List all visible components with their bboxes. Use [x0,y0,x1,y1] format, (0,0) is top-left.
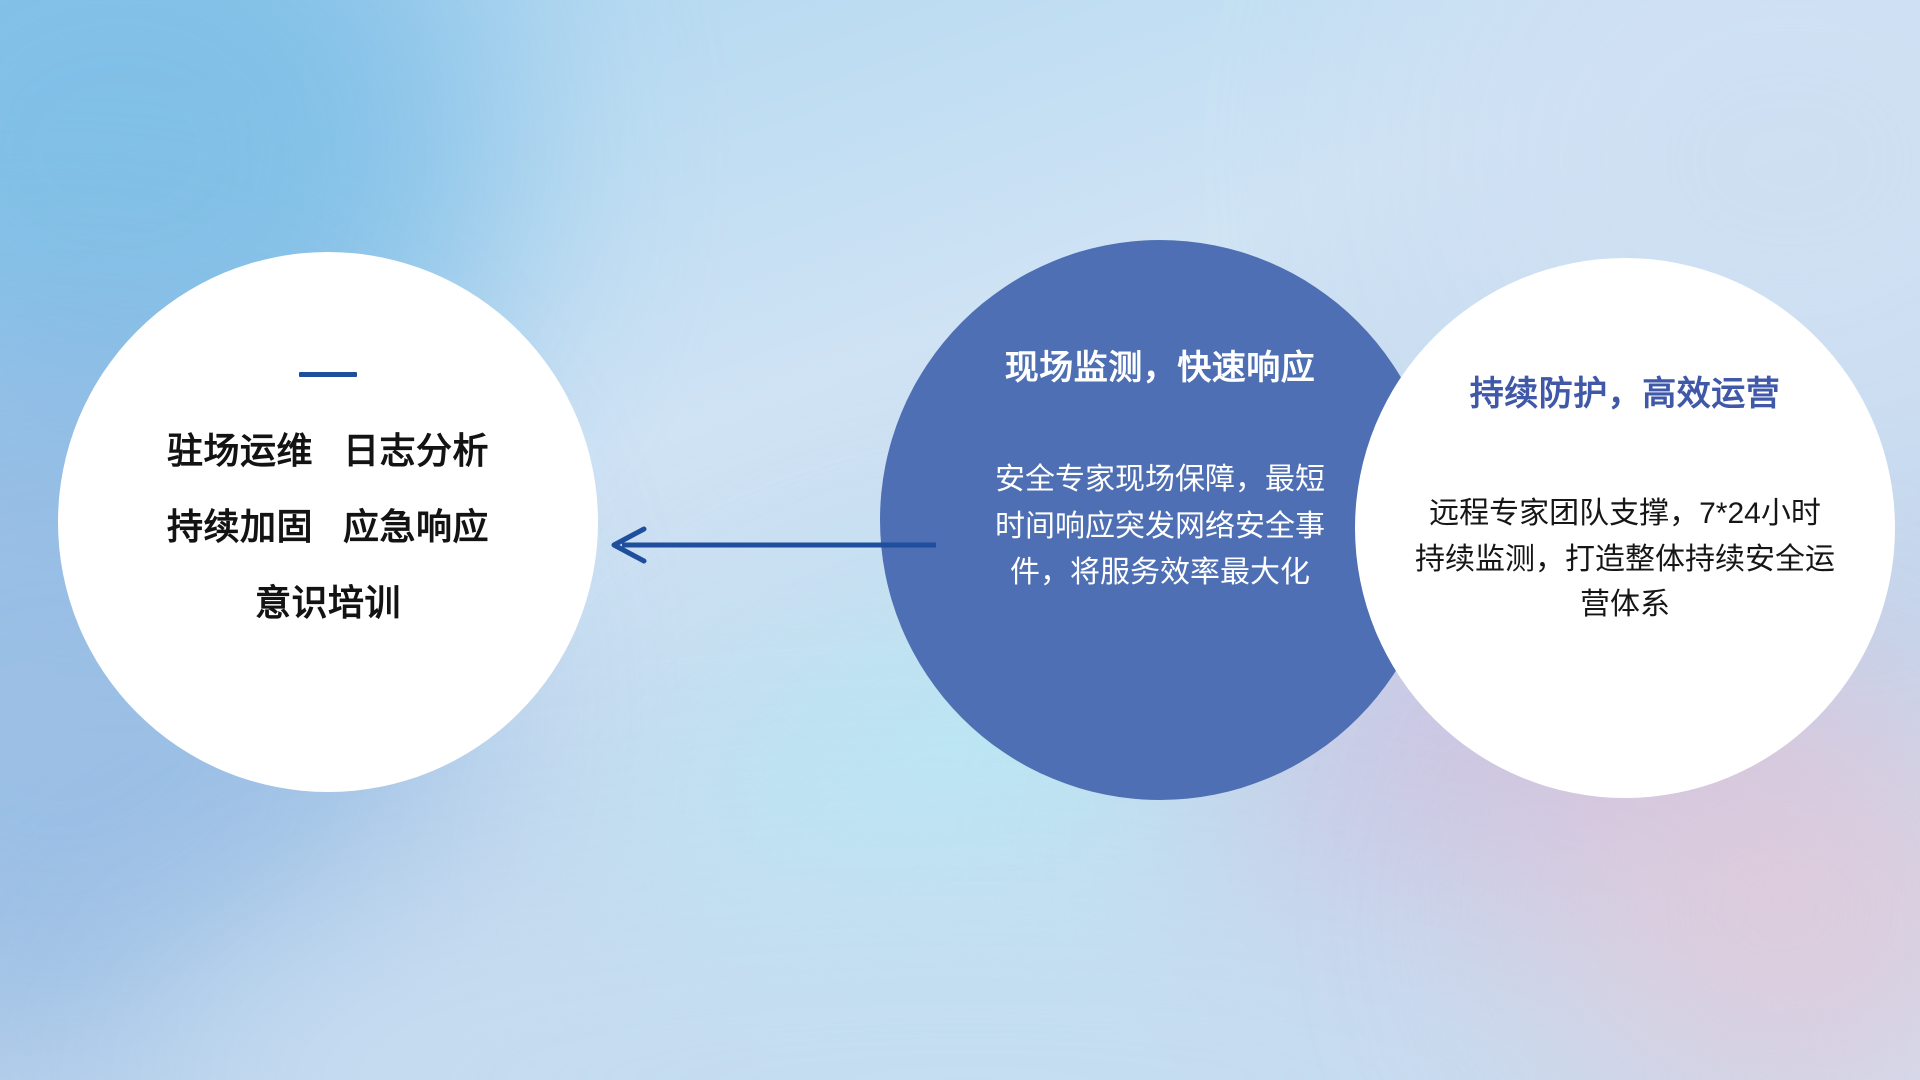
left-pointing-arrow-icon [600,510,940,580]
capability-row-3: 意识培训 [86,585,570,621]
middle-circle-title: 现场监测，快速响应 [916,340,1404,389]
accent-rule-divider [299,372,357,377]
capability-label-yishi-peixun: 意识培训 [255,582,401,623]
capability-row-1: 驻场运维日志分析 [86,433,570,469]
right-circle-title: 持续防护，高效运营 [1389,366,1861,415]
capability-label-chixu-jiagu: 持续加固 [167,506,313,547]
left-capability-circle[interactable]: 驻场运维日志分析 持续加固应急响应 意识培训 [58,252,598,792]
right-circle-body: 远程专家团队支撑，7*24小时持续监测，打造整体持续安全运营体系 [1415,491,1835,628]
slide-canvas: 驻场运维日志分析 持续加固应急响应 意识培训 现场监测，快速响应 安全专家现场保… [0,0,1920,1080]
capability-label-yingji-xiangying: 应急响应 [343,506,489,547]
right-continuous-protection-circle[interactable]: 持续防护，高效运营 远程专家团队支撑，7*24小时持续监测，打造整体持续安全运营… [1355,258,1895,798]
capability-row-2: 持续加固应急响应 [86,509,570,545]
capability-label-rizhi-fenxi: 日志分析 [343,430,489,471]
left-circle-content: 驻场运维日志分析 持续加固应急响应 意识培训 [58,372,598,621]
middle-circle-body: 安全专家现场保障，最短时间响应突发网络安全事件，将服务效率最大化 [995,457,1325,597]
right-circle-content: 持续防护，高效运营 远程专家团队支撑，7*24小时持续监测，打造整体持续安全运营… [1355,366,1895,628]
capability-label-zhuchang-yunwei: 驻场运维 [167,430,313,471]
